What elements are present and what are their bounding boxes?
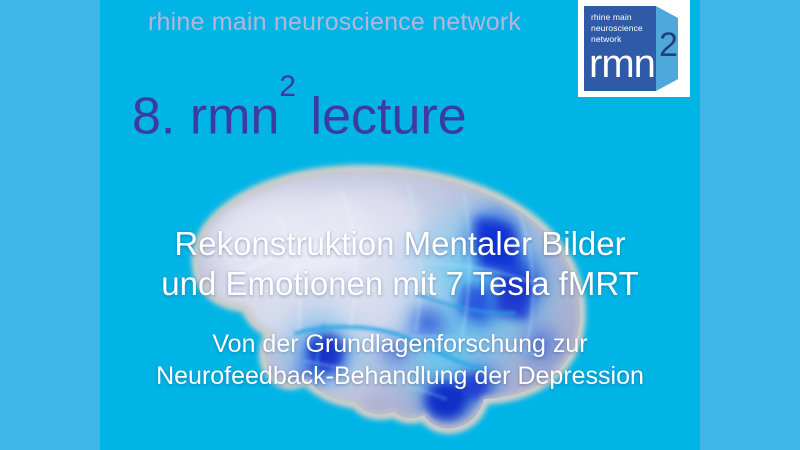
rmn-logo-inner: rhine main neuroscience network rmn 2 (584, 6, 684, 91)
rmn-logo-line-2: neuroscience (591, 23, 643, 34)
lecture-word: lecture (311, 87, 467, 145)
lecture-brand: rmn (190, 87, 280, 145)
network-header-text: rhine main neuroscience network (148, 8, 521, 37)
rmn-logo-wordmark: rmn (589, 44, 655, 84)
rmn-logo-wordlines: rhine main neuroscience network (591, 12, 643, 45)
slide-stage: rhine main neuroscience network rhine ma… (100, 0, 700, 450)
lecture-title: 8. rmn2 lecture (132, 78, 467, 144)
talk-title-line-2: und Emotionen mit 7 Tesla fMRT (100, 264, 700, 304)
rmn-logo-line-1: rhine main (591, 12, 643, 23)
letterbox-band-left (0, 0, 100, 450)
talk-title-line-1: Rekonstruktion Mentaler Bilder (100, 224, 700, 264)
rmn-logo-superscript: 2 (659, 28, 678, 62)
rmn-logo[interactable]: rhine main neuroscience network rmn 2 (578, 0, 690, 97)
talk-subtitle-line-1: Von der Grundlagenforschung zur (100, 328, 700, 360)
lecture-number: 8. (132, 87, 175, 145)
talk-title: Rekonstruktion Mentaler Bilder und Emoti… (100, 224, 700, 304)
talk-subtitle-line-2: Neurofeedback-Behandlung der Depression (100, 360, 700, 392)
poster-canvas: rhine main neuroscience network rhine ma… (0, 0, 800, 450)
talk-subtitle: Von der Grundlagenforschung zur Neurofee… (100, 328, 700, 392)
letterbox-band-right (700, 0, 800, 450)
lecture-exponent: 2 (279, 70, 296, 103)
